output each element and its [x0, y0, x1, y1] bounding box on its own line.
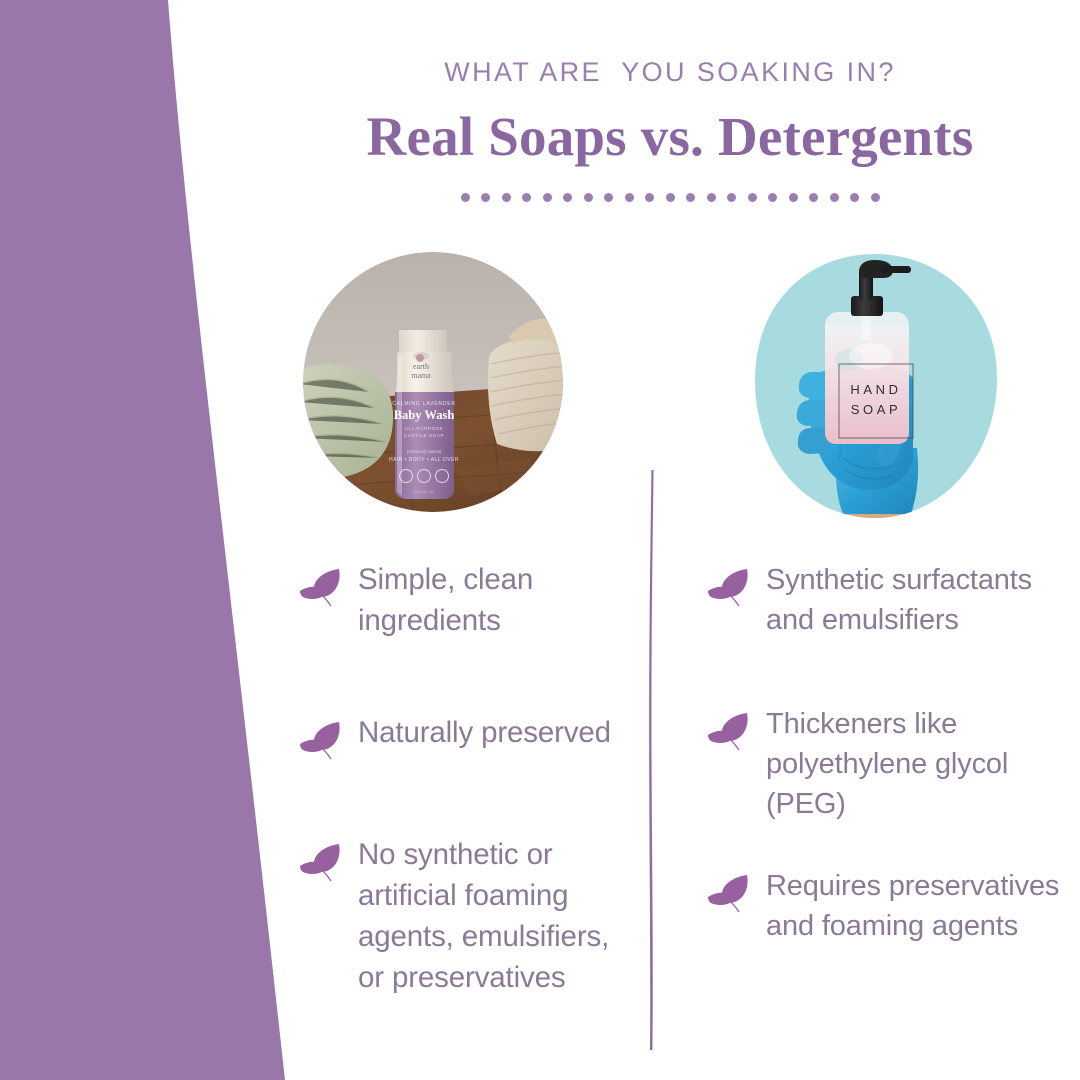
- leaf-pair-icon: [706, 566, 752, 610]
- divider-dot: [563, 193, 572, 202]
- divider-dot: [871, 193, 880, 202]
- brush-stroke-divider: [636, 470, 670, 1050]
- svg-text:Baby Wash: Baby Wash: [394, 408, 455, 422]
- divider-dot: [461, 193, 470, 202]
- svg-text:34 fl oz / 1L: 34 fl oz / 1L: [414, 489, 435, 494]
- list-item-text: No synthetic or artificial foaming agent…: [344, 835, 628, 998]
- divider-dot: [481, 193, 490, 202]
- leaf-pair-icon: [706, 710, 752, 754]
- svg-text:SOAP: SOAP: [851, 402, 902, 417]
- divider-dot: [748, 193, 757, 202]
- divider-dot: [789, 193, 798, 202]
- divider-dot: [666, 193, 675, 202]
- leaf-pair-icon: [706, 872, 752, 916]
- list-item-text: Simple, clean ingredients: [344, 560, 628, 641]
- header-block: WHAT ARE YOU SOAKING IN? Real Soaps vs. …: [300, 58, 1040, 202]
- svg-text:Deliciously Natural: Deliciously Natural: [407, 449, 442, 454]
- detergent-hand-soap-photo: HAND SOAP: [751, 252, 999, 524]
- leaf-pair-icon: [298, 841, 344, 885]
- leaf-pair-icon: [298, 719, 344, 763]
- list-item: Synthetic surfactants and emulsifiers: [706, 560, 1062, 640]
- divider-dot: [830, 193, 839, 202]
- list-item-text: Synthetic surfactants and emulsifiers: [752, 560, 1062, 640]
- list-item: Naturally preserved: [298, 713, 628, 763]
- divider-dot: [850, 193, 859, 202]
- list-item-text: Thickeners like polyethylene glycol (PEG…: [752, 704, 1062, 824]
- real-soap-product-photo: earth mama CALMING LAVENDER Baby Wash AL…: [303, 252, 563, 512]
- kicker-text: WHAT ARE YOU SOAKING IN?: [300, 58, 1040, 88]
- divider-dot: [584, 193, 593, 202]
- divider-dot: [809, 193, 818, 202]
- real-soaps-column: Simple, clean ingredients Naturally pres…: [298, 560, 628, 1036]
- list-item: Thickeners like polyethylene glycol (PEG…: [706, 704, 1062, 824]
- page-title: Real Soaps vs. Detergents: [300, 106, 1040, 168]
- leaf-pair-icon: [298, 566, 344, 610]
- list-item-text: Naturally preserved: [344, 713, 611, 754]
- divider-dot: [625, 193, 634, 202]
- svg-text:ALL PURPOSE: ALL PURPOSE: [405, 426, 443, 431]
- divider-dot: [768, 193, 777, 202]
- detergents-column: Synthetic surfactants and emulsifiers Th…: [706, 560, 1062, 984]
- divider-dot: [604, 193, 613, 202]
- infographic-canvas: WHAT ARE YOU SOAKING IN? Real Soaps vs. …: [0, 0, 1080, 1080]
- divider-dot: [522, 193, 531, 202]
- divider-dot: [727, 193, 736, 202]
- divider-dot: [686, 193, 695, 202]
- divider-dot: [543, 193, 552, 202]
- svg-text:HAND: HAND: [850, 382, 901, 397]
- dot-divider: [300, 193, 1040, 202]
- list-item: No synthetic or artificial foaming agent…: [298, 835, 628, 998]
- svg-text:earth: earth: [413, 362, 429, 371]
- purple-wedge-decoration: [0, 0, 300, 1080]
- list-item: Requires preservatives and foaming agent…: [706, 866, 1062, 946]
- svg-text:CASTILE SOAP: CASTILE SOAP: [404, 433, 444, 438]
- list-item-text: Requires preservatives and foaming agent…: [752, 866, 1062, 946]
- divider-dot: [502, 193, 511, 202]
- divider-dot: [645, 193, 654, 202]
- divider-dot: [707, 193, 716, 202]
- svg-text:mama: mama: [411, 371, 431, 380]
- list-item: Simple, clean ingredients: [298, 560, 628, 641]
